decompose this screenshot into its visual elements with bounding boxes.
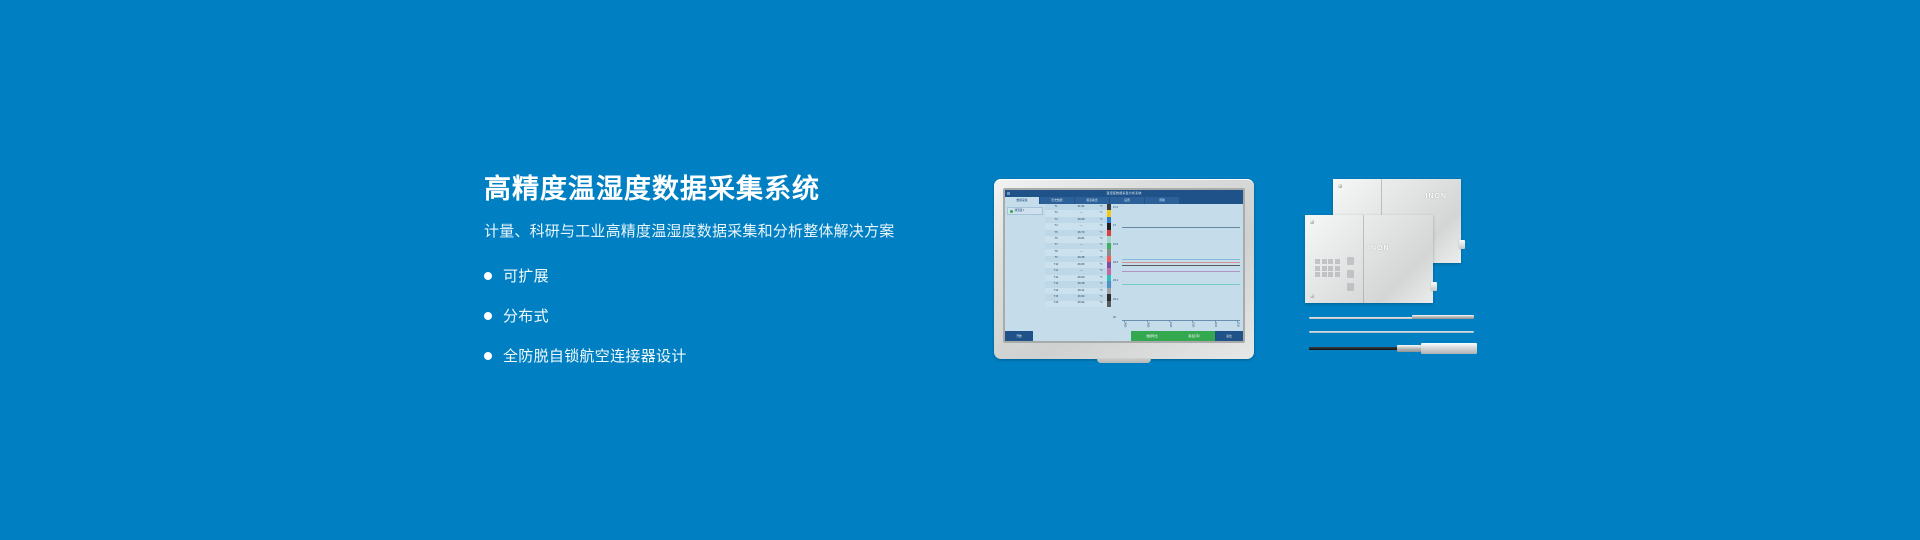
screw-icon <box>1310 220 1314 224</box>
cell-unit: ℃ <box>1095 277 1107 280</box>
cell-value: 26.81 <box>1067 238 1095 241</box>
bullet-icon <box>484 272 492 280</box>
trend-line <box>1122 262 1240 263</box>
cell-unit: ℃ <box>1095 283 1107 286</box>
cell-unit: ℃ <box>1095 302 1107 305</box>
cell-unit: ℃ <box>1095 244 1107 247</box>
probe-shaft <box>1309 331 1474 333</box>
cell-value: 26.99 <box>1067 219 1095 222</box>
export-data-button[interactable]: 数据导出 <box>1131 331 1173 341</box>
list-item: 分布式 <box>484 300 964 331</box>
tab-data-acquisition[interactable]: 数据采集 <box>1005 197 1039 204</box>
keypad-icon <box>1315 259 1340 277</box>
device-product-images: INON INON <box>1295 175 1475 355</box>
flexible-probe <box>1309 330 1474 334</box>
probe-shaft <box>1309 317 1413 319</box>
trend-line <box>1122 271 1240 272</box>
table-row[interactable]: T1626.94℃ <box>1045 301 1112 307</box>
cell-unit: ℃ <box>1095 212 1107 215</box>
module-brand-label: INON <box>1426 193 1448 200</box>
cell-value: 26.98 <box>1067 257 1095 260</box>
x-tick-label: 10:30 <box>1191 322 1193 327</box>
print-report-button[interactable]: 报表打印 <box>1173 331 1215 341</box>
screen-statusbar: 开始 数据导出 报表打印 退出 <box>1005 331 1243 341</box>
feature-label: 可扩展 <box>503 265 549 286</box>
probe-tip <box>1412 315 1474 319</box>
cell-value: — <box>1067 244 1095 247</box>
tab-label: 帮助 <box>1159 199 1165 202</box>
cell-channel: T3 <box>1045 219 1067 222</box>
screw-icon <box>1310 294 1314 298</box>
cell-value: — <box>1067 270 1095 273</box>
cell-unit: ℃ <box>1095 251 1107 254</box>
cell-value: 26.28 <box>1067 283 1095 286</box>
cell-value: 26.11 <box>1067 290 1095 293</box>
y-tick-label: 26.4 <box>1113 280 1118 283</box>
cell-unit: ℃ <box>1095 206 1107 209</box>
cell-value: — <box>1067 225 1095 228</box>
tab-history[interactable]: 历史数据 <box>1040 197 1074 204</box>
cell-unit: ℃ <box>1095 225 1107 228</box>
tab-label: 历史数据 <box>1051 199 1062 202</box>
tab-label: 数据采集 <box>1016 199 1027 202</box>
x-tick: 10:30 <box>1190 320 1195 330</box>
cell-value: 21.91 <box>1067 206 1095 209</box>
y-tick-label: 27.2 <box>1113 207 1118 210</box>
start-button[interactable]: 开始 <box>1005 331 1033 341</box>
monitor-product-image: 温湿度数据采集分析系统 数据采集 历史数据 报表输出 设置 帮助 通道组 1 <box>994 179 1254 359</box>
cell-unit: ℃ <box>1095 257 1107 260</box>
software-screen: 温湿度数据采集分析系统 数据采集 历史数据 报表输出 设置 帮助 通道组 1 <box>1005 190 1243 341</box>
cell-unit: ℃ <box>1095 290 1107 293</box>
cell-channel: T6 <box>1045 238 1067 241</box>
exit-button[interactable]: 退出 <box>1215 331 1243 341</box>
connector-port <box>1459 240 1465 249</box>
x-tick-label: 11:00 <box>1214 322 1216 327</box>
page-subtitle: 计量、科研与工业高精度温湿度数据采集和分析整体解决方案 <box>484 222 964 242</box>
x-tick: 09:30 <box>1145 320 1150 330</box>
banner-copy: 高精度温湿度数据采集系统 计量、科研与工业高精度温湿度数据采集和分析整体解决方案… <box>484 173 964 380</box>
cell-channel: T16 <box>1045 302 1067 305</box>
trend-line <box>1122 259 1240 260</box>
y-tick-label: 26 <box>1113 317 1116 320</box>
chart-y-axis: 27.22726.826.626.426.226 <box>1113 207 1122 317</box>
y-tick-label: 27 <box>1113 225 1116 228</box>
cell-value: 26.90 <box>1067 277 1095 280</box>
x-tick-label: 09:00 <box>1123 322 1125 327</box>
feature-list: 可扩展 分布式 全防脱自锁航空连接器设计 <box>484 260 964 371</box>
trend-line <box>1122 265 1240 266</box>
channel-table: T121.91℃T2—℃T326.99℃T4—℃T526.73℃T626.81℃… <box>1045 204 1112 331</box>
stainless-probe <box>1309 315 1474 320</box>
port-group-icon <box>1347 257 1354 291</box>
bullet-icon <box>484 352 492 360</box>
screw-icon <box>1338 184 1342 188</box>
x-tick-label: 10:00 <box>1168 322 1170 327</box>
x-tick: 09:00 <box>1122 320 1127 330</box>
probe-connector <box>1421 343 1477 354</box>
cell-value: — <box>1067 212 1095 215</box>
screen-sidebar: 通道组 1 <box>1005 204 1045 331</box>
screen-tabbar: 数据采集 历史数据 报表输出 设置 帮助 <box>1005 197 1243 204</box>
series-color-swatch <box>1107 301 1111 307</box>
y-tick-label: 26.6 <box>1113 262 1118 265</box>
module-brand-label: INON <box>1368 245 1390 252</box>
acquisition-module-front: INON <box>1305 215 1433 303</box>
cell-unit: ℃ <box>1095 296 1107 299</box>
cell-channel: T14 <box>1045 290 1067 293</box>
trend-line <box>1122 284 1240 285</box>
cell-unit: ℃ <box>1095 232 1107 235</box>
tab-label: 设置 <box>1124 199 1130 202</box>
tab-settings[interactable]: 设置 <box>1110 197 1144 204</box>
screen-titlebar: 温湿度数据采集分析系统 <box>1005 190 1243 197</box>
trend-chart: 27.22726.826.626.426.226 09:0009:3010:00… <box>1112 204 1243 331</box>
cell-channel: T4 <box>1045 225 1067 228</box>
cell-unit: ℃ <box>1095 264 1107 267</box>
connector-port <box>1431 282 1437 291</box>
sidebar-item-channel-group[interactable]: 通道组 1 <box>1007 207 1043 215</box>
y-tick-label: 26.2 <box>1113 299 1118 302</box>
monitor-chin <box>994 343 1254 359</box>
chart-plot-area <box>1122 207 1240 317</box>
cell-channel: T13 <box>1045 283 1067 286</box>
status-dot-icon <box>1010 210 1013 213</box>
module-seam <box>1363 215 1364 303</box>
trend-line <box>1122 227 1240 228</box>
screen-body: 通道组 1 T121.91℃T2—℃T326.99℃T4—℃T526.73℃T6… <box>1005 204 1243 331</box>
cell-channel: T10 <box>1045 264 1067 267</box>
product-banner: 高精度温湿度数据采集系统 计量、科研与工业高精度温湿度数据采集和分析整体解决方案… <box>0 0 1920 540</box>
cell-value: — <box>1067 251 1095 254</box>
sidebar-item-label: 通道组 1 <box>1015 210 1025 213</box>
cell-channel: T15 <box>1045 296 1067 299</box>
x-tick: 11:30 <box>1235 320 1240 330</box>
window-menu-icon <box>1007 192 1010 195</box>
feature-label: 全防脱自锁航空连接器设计 <box>503 345 687 366</box>
x-tick: 10:00 <box>1167 320 1172 330</box>
cell-channel: T8 <box>1045 251 1067 254</box>
screen-window-title: 温湿度数据采集分析系统 <box>1106 192 1141 195</box>
cell-channel: T11 <box>1045 270 1067 273</box>
tab-report[interactable]: 报表输出 <box>1075 197 1109 204</box>
x-tick-label: 11:30 <box>1236 322 1238 327</box>
tab-help[interactable]: 帮助 <box>1145 197 1179 204</box>
feature-label: 分布式 <box>503 305 549 326</box>
cell-unit: ℃ <box>1095 238 1107 241</box>
cell-channel: T1 <box>1045 206 1067 209</box>
cell-value: 26.90 <box>1067 296 1095 299</box>
cell-channel: T2 <box>1045 212 1067 215</box>
cell-channel: T12 <box>1045 277 1067 280</box>
cell-channel: T7 <box>1045 244 1067 247</box>
statusbar-spacer <box>1033 331 1131 341</box>
bullet-icon <box>484 312 492 320</box>
page-title: 高精度温湿度数据采集系统 <box>484 173 964 205</box>
probe-cable <box>1309 347 1401 350</box>
probe-ferrule <box>1397 345 1421 352</box>
x-tick: 11:00 <box>1212 320 1217 330</box>
cell-value: 26.94 <box>1067 302 1095 305</box>
cable-probe <box>1309 343 1474 353</box>
cell-value: 26.80 <box>1067 264 1095 267</box>
tab-label: 报表输出 <box>1086 199 1097 202</box>
cell-unit: ℃ <box>1095 270 1107 273</box>
x-tick-label: 09:30 <box>1146 322 1148 327</box>
monitor-stand <box>1097 358 1151 363</box>
chart-x-axis: 09:0009:3010:0010:3011:0011:30 <box>1122 320 1240 330</box>
y-tick-label: 26.8 <box>1113 244 1118 247</box>
cell-value: 26.73 <box>1067 232 1095 235</box>
list-item: 可扩展 <box>484 260 964 291</box>
cell-channel: T9 <box>1045 257 1067 260</box>
cell-unit: ℃ <box>1095 219 1107 222</box>
list-item: 全防脱自锁航空连接器设计 <box>484 340 964 371</box>
cell-channel: T5 <box>1045 232 1067 235</box>
monitor-screen-frame: 温湿度数据采集分析系统 数据采集 历史数据 报表输出 设置 帮助 通道组 1 <box>1003 188 1245 343</box>
